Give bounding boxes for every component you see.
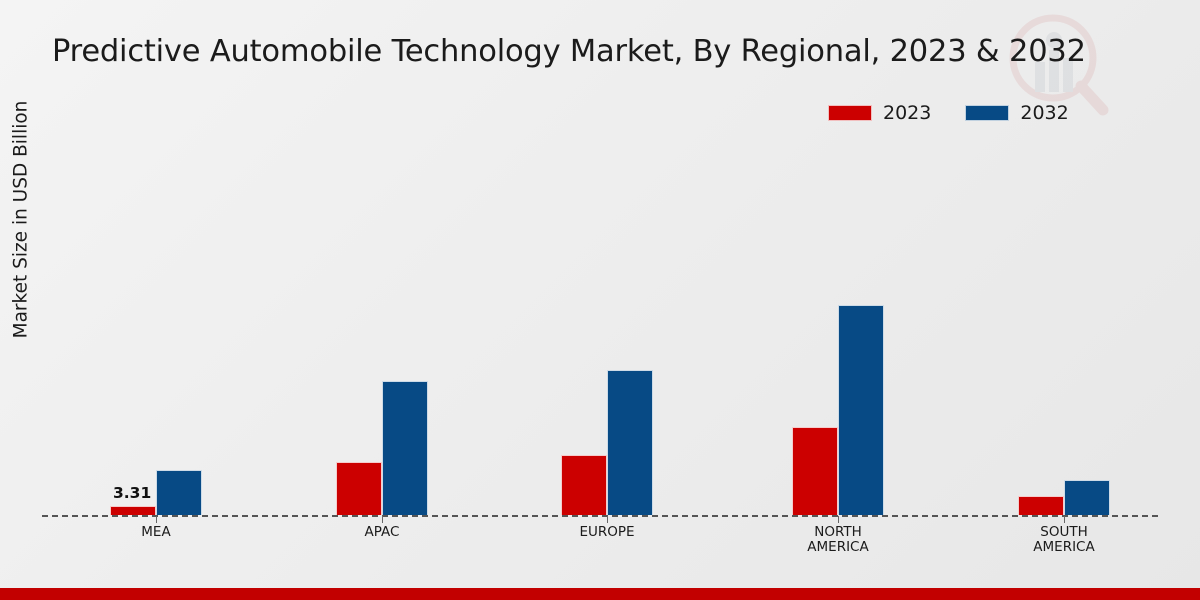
category-label-europe: EUROPE bbox=[517, 525, 697, 540]
legend-swatch-2023 bbox=[828, 105, 872, 121]
x-tick-apac bbox=[382, 516, 383, 523]
chart-legend: 2023 2032 bbox=[828, 101, 1069, 125]
bar-2023-apac[interactable] bbox=[336, 462, 382, 515]
bar-2032-europe[interactable] bbox=[607, 370, 653, 515]
legend-item-2032[interactable]: 2032 bbox=[965, 101, 1068, 125]
legend-item-2023[interactable]: 2023 bbox=[828, 101, 931, 125]
bar-value-label-mea: 3.31 bbox=[113, 484, 151, 502]
x-tick-south-america bbox=[1064, 516, 1065, 523]
category-label-south-america: SOUTHAMERICA bbox=[974, 525, 1154, 555]
bar-2023-south-america[interactable] bbox=[1018, 496, 1064, 515]
x-tick-europe bbox=[607, 516, 608, 523]
bar-2023-north-america[interactable] bbox=[792, 427, 838, 515]
x-tick-north-america bbox=[838, 516, 839, 523]
bar-2032-south-america[interactable] bbox=[1064, 480, 1110, 515]
bar-2023-mea[interactable] bbox=[110, 506, 156, 515]
bar-2032-apac[interactable] bbox=[382, 381, 428, 515]
x-axis-baseline bbox=[42, 515, 1158, 517]
bar-2032-mea[interactable] bbox=[156, 470, 202, 515]
bar-2023-europe[interactable] bbox=[561, 455, 607, 515]
legend-label-2023: 2023 bbox=[883, 104, 931, 123]
legend-label-2032: 2032 bbox=[1020, 104, 1068, 123]
y-axis-title: Market Size in USD Billion bbox=[11, 55, 32, 385]
bar-2032-north-america[interactable] bbox=[838, 305, 884, 515]
footer-accent-rule bbox=[0, 588, 1200, 600]
category-label-apac: APAC bbox=[292, 525, 472, 540]
category-label-mea: MEA bbox=[66, 525, 246, 540]
legend-swatch-2032 bbox=[965, 105, 1009, 121]
chart-title: Predictive Automobile Technology Market,… bbox=[52, 34, 1092, 69]
chart-figure: Predictive Automobile Technology Market,… bbox=[0, 0, 1200, 600]
x-tick-mea bbox=[156, 516, 157, 523]
category-label-north-america: NORTHAMERICA bbox=[748, 525, 928, 555]
